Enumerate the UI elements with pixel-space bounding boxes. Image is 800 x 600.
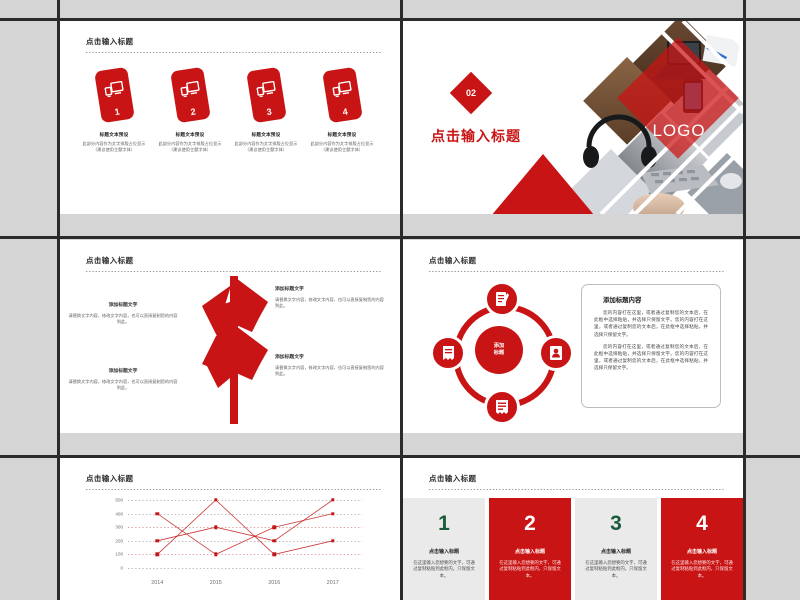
- chart-data-point: [331, 539, 334, 542]
- slide-6[interactable]: 点击输入标题 1 点击输入标题 在这里输入您想要的文字，可通过复制粘贴到此框内，…: [403, 458, 743, 600]
- card-item-3[interactable]: 3 标题文本预设 此部分内容作为文字排版占位显示（建议使用主题字体）: [230, 69, 302, 153]
- cover-layout: 02 点击输入标题 LOGO: [403, 21, 743, 214]
- card-body: 此部分内容作为文字排版占位显示（建议使用主题字体）: [306, 141, 378, 153]
- chart-data-point: [331, 512, 334, 515]
- card-title: 标题文本预设: [78, 132, 150, 138]
- slide-5-title: 点击输入标题: [86, 474, 382, 484]
- devices-icon: [331, 81, 352, 99]
- slide-4-header: 点击输入标题: [429, 256, 725, 272]
- ring-node-left[interactable]: [430, 335, 466, 371]
- card-item-4[interactable]: 4 标题文本预设 此部分内容作为文字排版占位显示（建议使用主题字体）: [306, 69, 378, 153]
- title-dotted-rule: [86, 489, 382, 490]
- chart-x-tick: 2014: [151, 580, 163, 586]
- tilted-card-row: 1 标题文本预设 此部分内容作为文字排版占位显示（建议使用主题字体） 2 标题文…: [78, 69, 382, 199]
- column-body: 在这里输入您想要的文字，可通过复制粘贴到此框内，只保留文本。: [584, 560, 648, 579]
- column-3[interactable]: 3 点击输入标题 在这里输入您想要的文字，可通过复制粘贴到此框内，只保留文本。: [575, 498, 657, 600]
- column-body: 在这里输入您想要的文字，可通过复制粘贴到此框内，只保留文本。: [412, 560, 476, 579]
- chart-y-tick: 300: [115, 525, 123, 530]
- item-title: 添加标题文字: [275, 286, 385, 293]
- section-number: 02: [456, 78, 486, 108]
- section-number-diamond: 02: [450, 72, 492, 114]
- card-body: 此部分内容作为文字排版占位显示（建议使用主题字体）: [230, 141, 302, 153]
- title-dotted-rule: [429, 489, 725, 490]
- card-tile[interactable]: 4: [322, 67, 363, 124]
- slide-4-title: 点击输入标题: [429, 256, 725, 266]
- slide-3-header: 点击输入标题: [86, 256, 382, 272]
- column-title: 点击输入标题: [498, 549, 562, 556]
- red-triangle-accent: [491, 154, 595, 214]
- ring-center-label: 添加 标题: [475, 326, 523, 374]
- chart-series-layer: [128, 500, 362, 568]
- slide-1-header: 点击输入标题: [86, 37, 382, 53]
- slide-6-title: 点击输入标题: [429, 474, 725, 484]
- column-number: 1: [412, 512, 476, 536]
- title-dotted-rule: [86, 52, 382, 53]
- column-body: 在这里输入您想要的文字，可通过复制粘贴到此框内，只保留文本。: [498, 560, 562, 579]
- chart-data-point: [273, 553, 276, 556]
- circular-diagram: 添加 标题: [431, 282, 567, 418]
- ring-center-line-1: 添加: [494, 343, 504, 351]
- chart-data-point: [273, 525, 276, 528]
- chart-x-tick: 2015: [210, 580, 222, 586]
- card-body: 此部分内容作为文字排版占位显示（建议使用主题字体）: [154, 141, 226, 153]
- chart-data-point: [156, 553, 159, 556]
- title-dotted-rule: [86, 271, 382, 272]
- line-chart: 0100200300400500 2014201520162017: [98, 500, 366, 590]
- slide-2[interactable]: 02 点击输入标题 LOGO: [403, 21, 743, 214]
- item-title: 添加标题文字: [275, 354, 385, 361]
- slide-thumbnail-deck: 点击输入标题 1 标题文本预设 此部分内容作为文字排版占位显示（建议使用主题字体…: [0, 0, 800, 600]
- chart-data-point: [156, 539, 159, 542]
- cover-title: 点击输入标题: [431, 126, 561, 146]
- panel-paragraph-2: 您的内容打在这里，或者通过复制您的文本后，在此框中选择粘贴，并选择只保留文字。您…: [594, 343, 708, 372]
- item-title: 添加标题文字: [68, 368, 178, 375]
- slide-4[interactable]: 点击输入标题 添加 标题: [403, 240, 743, 433]
- chart-data-point: [331, 498, 334, 501]
- slide-5-header: 点击输入标题: [86, 474, 382, 490]
- chart-data-point: [214, 498, 217, 501]
- card-tile[interactable]: 1: [94, 67, 135, 124]
- grid-divider-vertical-right: [743, 0, 746, 600]
- chart-plot-area: 0100200300400500: [128, 500, 362, 568]
- slide-3[interactable]: 点击输入标题 添加标题文字 请替换文字内容，修改文字内容，也可以直接复制您的内容…: [60, 240, 400, 433]
- card-tile[interactable]: 3: [246, 67, 287, 124]
- content-panel: 添加标题内容 您的内容打在这里，或者通过复制您的文本后，在此框中选择粘贴，并选择…: [581, 284, 721, 408]
- card-body: 此部分内容作为文字排版占位显示（建议使用主题字体）: [78, 141, 150, 153]
- zigzag-item-2: 添加标题文字 请替换文字内容，修改文字内容，也可以直接复制您的内容到此。: [68, 302, 178, 326]
- list-document-icon: [495, 399, 510, 415]
- item-body: 请替换文字内容，修改文字内容，也可以直接复制您的内容到此。: [275, 365, 385, 378]
- column-title: 点击输入标题: [584, 549, 648, 556]
- title-dotted-rule: [429, 271, 725, 272]
- column-row: 1 点击输入标题 在这里输入您想要的文字，可通过复制粘贴到此框内，只保留文本。 …: [403, 498, 743, 600]
- card-title: 标题文本预设: [230, 132, 302, 138]
- zigzag-item-1: 添加标题文字 请替换文字内容，修改文字内容，也可以直接复制您的内容到此。: [275, 286, 385, 310]
- slide-1-title: 点击输入标题: [86, 37, 382, 47]
- devices-icon: [179, 81, 200, 99]
- card-title: 标题文本预设: [154, 132, 226, 138]
- column-number: 2: [498, 512, 562, 536]
- ring-center-line-2: 标题: [494, 350, 504, 358]
- item-title: 添加标题文字: [68, 302, 178, 309]
- slide-3-title: 点击输入标题: [86, 256, 382, 266]
- chart-data-point: [273, 539, 276, 542]
- chart-data-point: [214, 525, 217, 528]
- card-tile[interactable]: 2: [170, 67, 211, 124]
- card-item-1[interactable]: 1 标题文本预设 此部分内容作为文字排版占位显示（建议使用主题字体）: [78, 69, 150, 153]
- column-number: 4: [670, 512, 734, 536]
- column-title: 点击输入标题: [412, 549, 476, 556]
- item-body: 请替换文字内容，修改文字内容，也可以直接复制您的内容到此。: [68, 313, 178, 326]
- id-card-icon: [549, 345, 563, 361]
- card-number: 1: [100, 104, 134, 119]
- item-body: 请替换文字内容，修改文字内容，也可以直接复制您的内容到此。: [275, 297, 385, 310]
- slide-5[interactable]: 点击输入标题 0100200300400500 2014201520162017: [60, 458, 400, 600]
- ring-node-right[interactable]: [538, 335, 574, 371]
- chart-y-tick: 200: [115, 538, 123, 543]
- chart-y-tick: 500: [115, 498, 123, 503]
- chart-data-point: [156, 512, 159, 515]
- devices-icon: [255, 81, 276, 99]
- column-body: 在这里输入您想要的文字，可通过复制粘贴到此框内，只保留文本。: [670, 560, 734, 579]
- zigzag-item-4: 添加标题文字 请替换文字内容，修改文字内容，也可以直接复制您的内容到此。: [68, 368, 178, 392]
- column-1[interactable]: 1 点击输入标题 在这里输入您想要的文字，可通过复制粘贴到此框内，只保留文本。: [403, 498, 485, 600]
- panel-title: 添加标题内容: [603, 295, 708, 304]
- item-body: 请替换文字内容，修改文字内容，也可以直接复制您的内容到此。: [68, 379, 178, 392]
- ring-node-bottom[interactable]: [484, 389, 520, 425]
- column-number: 3: [584, 512, 648, 536]
- document-pen-icon: [495, 291, 510, 307]
- devices-icon: [103, 81, 124, 99]
- card-item-2[interactable]: 2 标题文本预设 此部分内容作为文字排版占位显示（建议使用主题字体）: [154, 69, 226, 153]
- chart-y-tick: 0: [120, 566, 123, 571]
- slide-1[interactable]: 点击输入标题 1 标题文本预设 此部分内容作为文字排版占位显示（建议使用主题字体…: [60, 21, 400, 214]
- grid-divider-horizontal-2: [0, 236, 800, 239]
- zigzag-item-3: 添加标题文字 请替换文字内容，修改文字内容，也可以直接复制您的内容到此。: [275, 354, 385, 378]
- chart-y-tick: 400: [115, 511, 123, 516]
- zigzag-arrow-graphic: [200, 276, 272, 424]
- panel-paragraph-1: 您的内容打在这里，或者通过复制您的文本后，在此框中选择粘贴，并选择只保留文字。您…: [594, 309, 708, 338]
- card-number: 3: [252, 104, 286, 119]
- card-number: 2: [176, 104, 210, 119]
- book-icon: [441, 345, 456, 361]
- chart-gridline: 0: [128, 568, 362, 569]
- column-title: 点击输入标题: [670, 549, 734, 556]
- card-title: 标题文本预设: [306, 132, 378, 138]
- chart-x-tick: 2016: [268, 580, 280, 586]
- slide-6-header: 点击输入标题: [429, 474, 725, 490]
- ring-node-top[interactable]: [484, 281, 520, 317]
- column-4[interactable]: 4 点击输入标题 在这里输入您想要的文字，可通过复制粘贴到此框内，只保留文本。: [661, 498, 743, 600]
- column-2[interactable]: 2 点击输入标题 在这里输入您想要的文字，可通过复制粘贴到此框内，只保留文本。: [489, 498, 571, 600]
- card-number: 4: [328, 104, 362, 119]
- chart-data-point: [214, 553, 217, 556]
- chart-x-tick: 2017: [327, 580, 339, 586]
- chart-y-tick: 100: [115, 552, 123, 557]
